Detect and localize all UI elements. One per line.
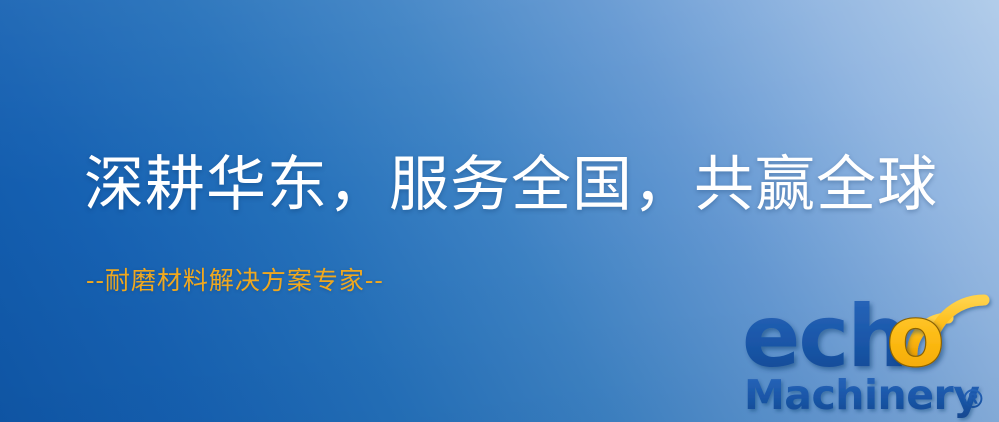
promotional-banner: 深耕华东，服务全国，共赢全球 --耐磨材料解决方案专家-- bbox=[0, 0, 999, 422]
banner-subtitle: --耐磨材料解决方案专家-- bbox=[86, 266, 384, 296]
banner-headline: 深耕华东，服务全国，共赢全球 bbox=[84, 152, 938, 219]
company-logo[interactable]: ech o Machinery ® bbox=[742, 296, 994, 418]
logo-graphic: ech o Machinery ® bbox=[742, 296, 994, 418]
logo-registered-mark: ® bbox=[960, 385, 986, 415]
logo-text-machinery: Machinery bbox=[744, 371, 979, 419]
